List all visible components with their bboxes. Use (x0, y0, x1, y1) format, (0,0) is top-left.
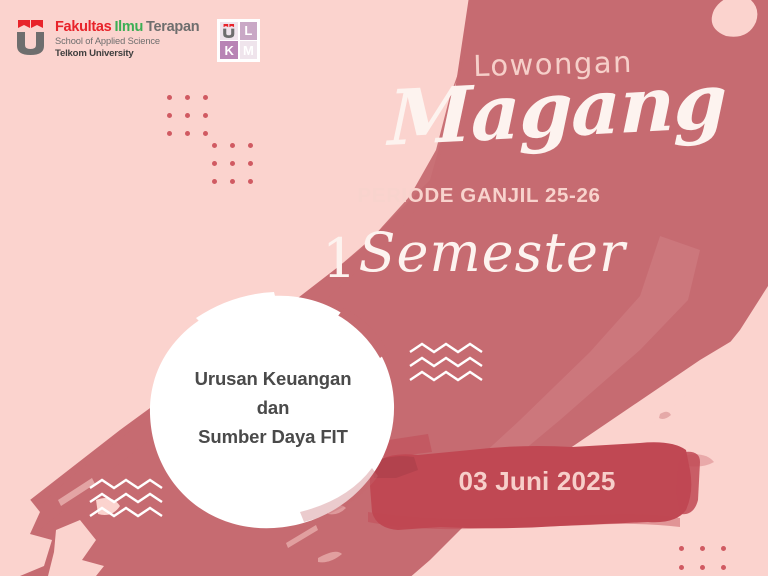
dot (230, 161, 235, 166)
dot (212, 143, 217, 148)
dot (203, 131, 208, 136)
fit-subtitle: School of Applied Science (55, 36, 199, 48)
dot (700, 565, 705, 570)
internship-vacancy-poster: FakultasIlmuTerapan School of Applied Sc… (0, 0, 768, 576)
headline-block: Lowongan Magang (388, 50, 726, 145)
dot (248, 161, 253, 166)
fit-institution: Telkom University (55, 48, 199, 60)
lkm-cell-u (220, 22, 238, 40)
fleck-right-a (611, 449, 628, 459)
date-banner-brush-spray (686, 454, 714, 466)
dot (167, 131, 172, 136)
dot-grid-top-left (167, 95, 221, 149)
fakultas-ilmu-terapan-logo: FakultasIlmuTerapan School of Applied Sc… (14, 18, 199, 60)
dot (203, 113, 208, 118)
headline-title: Magang (387, 66, 726, 154)
dot (679, 565, 684, 570)
unit-circle: Urusan Keuangan dan Sumber Daya FIT (152, 296, 394, 528)
dot (721, 546, 726, 551)
brush-tear-left-lower-2 (48, 520, 104, 576)
dot (185, 113, 190, 118)
brush-highlight-notch (712, 0, 758, 37)
duration-number: 1 (322, 227, 356, 290)
unit-line-2: dan (152, 393, 394, 422)
telkom-u-glyph (14, 18, 48, 56)
brush-streak-d (318, 552, 342, 563)
lkm-cell-m: M (240, 41, 258, 59)
lkm-cell-l: L (240, 22, 258, 40)
date-banner-brush-dry-edge (368, 512, 680, 529)
logo-header: FakultasIlmuTerapan School of Applied Sc… (14, 18, 260, 62)
brush-streak-a (58, 478, 95, 506)
right-pale-wedge (470, 286, 768, 576)
brush-streak-b (286, 525, 318, 548)
lkm-telkom-u-icon (222, 23, 236, 39)
brush-tear-left-lower (0, 492, 52, 576)
zigzag-middle (410, 344, 482, 380)
dot (721, 565, 726, 570)
dot (679, 546, 684, 551)
period-label: PERIODE GANJIL 25-26 (0, 184, 768, 208)
dot (230, 143, 235, 148)
unit-line-1: Urusan Keuangan (152, 364, 394, 393)
dot (167, 95, 172, 100)
dot (700, 546, 705, 551)
fit-title-word-1: Fakultas (55, 19, 111, 35)
fit-title-word-3: Terapan (146, 19, 199, 35)
fit-title-word-2: Ilmu (114, 19, 143, 35)
dot (185, 131, 190, 136)
fit-logo-wordmark: FakultasIlmuTerapan School of Applied Sc… (55, 18, 199, 60)
dot (248, 143, 253, 148)
dot (167, 113, 172, 118)
lkm-cell-k: K (220, 41, 238, 59)
dot (212, 161, 217, 166)
unit-line-3: Sumber Daya FIT (152, 422, 394, 451)
dot (185, 95, 190, 100)
telkom-u-icon (14, 18, 48, 56)
fit-title: FakultasIlmuTerapan (55, 20, 199, 35)
duration-label: 1Semester (0, 226, 768, 286)
brush-speck-left-a (96, 498, 120, 515)
unit-circle-text: Urusan Keuangan dan Sumber Daya FIT (152, 364, 394, 452)
deadline-date: 03 Juni 2025 (392, 466, 682, 497)
duration-word: Semester (359, 221, 626, 284)
lkm-logo: L K M (217, 19, 260, 62)
dot-grid-bottom-right (679, 546, 742, 576)
fleck-right-b (659, 412, 671, 419)
dot (203, 95, 208, 100)
brush-speck-left-b (0, 546, 14, 559)
